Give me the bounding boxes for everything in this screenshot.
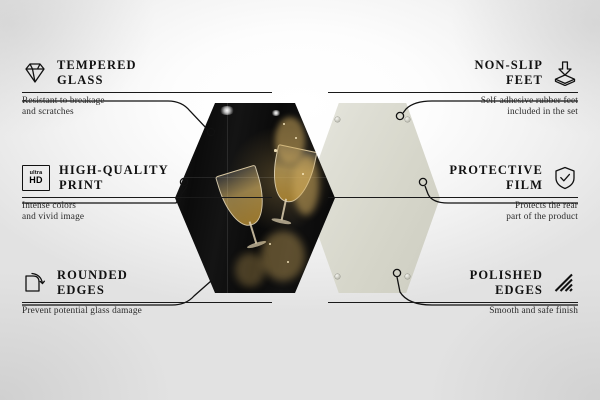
diamond-icon bbox=[22, 60, 48, 86]
feature-description: Smooth and safe finish bbox=[328, 306, 578, 317]
feature-rule bbox=[328, 197, 578, 198]
feature-description: Protects the rear part of the product bbox=[328, 201, 578, 224]
feature-title: HIGH-QUALITY PRINT bbox=[59, 163, 169, 193]
feature-title: POLISHED EDGES bbox=[470, 268, 543, 298]
feature-title: ROUNDED EDGES bbox=[57, 268, 128, 298]
rounded-corner-icon bbox=[22, 270, 48, 296]
feature-rule bbox=[22, 92, 272, 93]
infographic-canvas: TEMPERED GLASS Resistant to breakage and… bbox=[0, 0, 600, 400]
feature-rule bbox=[22, 197, 272, 198]
feature-description: Resistant to breakage and scratches bbox=[22, 96, 272, 119]
feature-description: Self-adhesive rubber feet included in th… bbox=[328, 96, 578, 119]
ultra-hd-icon: ultra HD bbox=[22, 165, 50, 191]
feature-non-slip-feet: NON-SLIP FEET Self-adhesive rubber feet … bbox=[328, 58, 578, 119]
feature-title: TEMPERED GLASS bbox=[57, 58, 137, 88]
feature-title: PROTECTIVE FILM bbox=[449, 163, 543, 193]
connector-node-tempered-glass bbox=[207, 128, 214, 135]
shield-check-icon bbox=[552, 165, 578, 191]
ultra-hd-icon-bottom: HD bbox=[29, 176, 42, 185]
feature-description: Prevent potential glass damage bbox=[22, 306, 272, 317]
feature-polished-edges: POLISHED EDGES Smooth and safe finish bbox=[328, 268, 578, 317]
feature-protective-film: PROTECTIVE FILM Protects the rear part o… bbox=[328, 163, 578, 224]
press-down-pad-icon bbox=[552, 60, 578, 86]
feature-rounded-edges: ROUNDED EDGES Prevent potential glass da… bbox=[22, 268, 272, 317]
hatched-bevel-icon bbox=[552, 270, 578, 296]
feature-description: Intense colors and vivid image bbox=[22, 201, 272, 224]
feature-rule bbox=[328, 92, 578, 93]
feature-rule bbox=[328, 302, 578, 303]
feature-rule bbox=[22, 302, 272, 303]
feature-high-quality-print: ultra HD HIGH-QUALITY PRINT Intense colo… bbox=[22, 163, 272, 224]
feature-title: NON-SLIP FEET bbox=[474, 58, 543, 88]
feature-tempered-glass: TEMPERED GLASS Resistant to breakage and… bbox=[22, 58, 272, 119]
